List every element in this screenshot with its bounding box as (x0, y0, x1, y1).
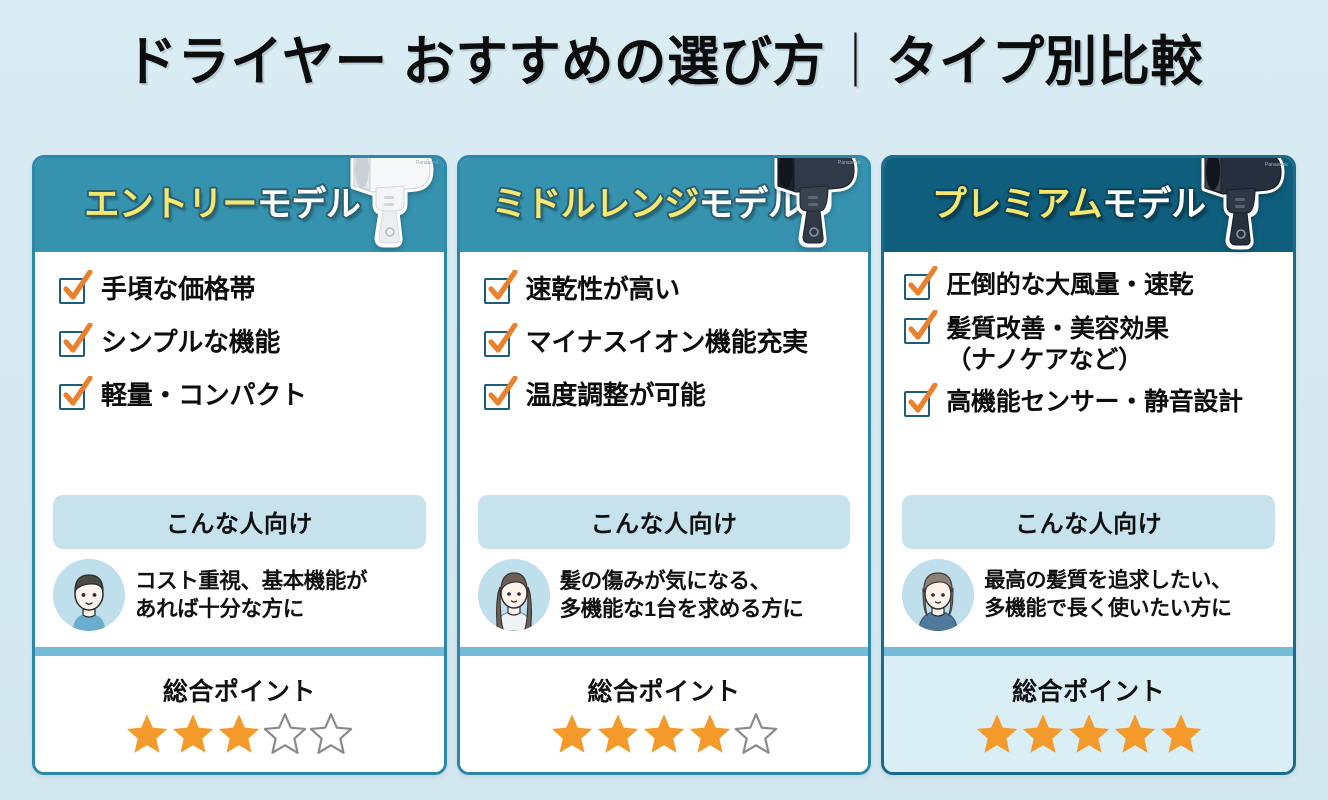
star-filled-icon (596, 712, 640, 756)
footer-divider (460, 647, 869, 656)
score-footer-midrange: 総合ポイント (460, 656, 869, 772)
feature-list-midrange: 速乾性が高い マイナスイオン機能充実 温 (460, 252, 869, 445)
column-header-plain: モデル (699, 185, 803, 224)
column-header-text-midrange: ミドルレンジモデル (492, 187, 803, 222)
feature-item: 温度調整が可能 (484, 380, 869, 412)
card-midrange: ミドルレンジモデル (457, 155, 872, 775)
target-badge: こんな人向け (53, 495, 426, 549)
checkbox-checked-icon (59, 384, 89, 412)
score-label: 総合ポイント (163, 672, 316, 708)
star-filled-icon (217, 712, 261, 756)
checkbox-checked-icon (904, 318, 934, 346)
star-filled-icon (1159, 712, 1203, 756)
checkbox-checked-icon (484, 278, 514, 306)
star-filled-icon (642, 712, 686, 756)
feature-label: 速乾性が高い (526, 274, 680, 306)
column-header-text-entry: エントリーモデル (84, 187, 360, 222)
star-filled-icon (1021, 712, 1065, 756)
feature-label: 軽量・コンパクト (101, 380, 307, 412)
column-entry[interactable]: エントリーモデル (32, 155, 447, 775)
feature-item: 軽量・コンパクト (59, 380, 444, 412)
svg-text:Panasonic: Panasonic (1265, 162, 1289, 168)
star-filled-icon (125, 712, 169, 756)
column-header-accent: エントリー (84, 185, 257, 224)
column-header-entry: エントリーモデル (35, 158, 444, 252)
column-midrange[interactable]: ミドルレンジモデル (457, 155, 872, 775)
feature-item: マイナスイオン機能充実 (484, 327, 869, 359)
column-header-accent: プレミアム (932, 185, 1102, 224)
page-title-separator: ｜ (825, 32, 886, 92)
svg-text:Panasonic: Panasonic (416, 160, 440, 166)
star-filled-icon (975, 712, 1019, 756)
star-rating (125, 712, 353, 756)
score-label: 総合ポイント (1012, 672, 1165, 708)
star-filled-icon (1113, 712, 1157, 756)
feature-label: 高機能センサー・静音設計 (946, 387, 1242, 418)
feature-label: 温度調整が可能 (526, 380, 706, 412)
column-header-text-premium: プレミアムモデル (932, 187, 1206, 222)
column-header-accent: ミドルレンジ (492, 185, 699, 224)
page-title: ドライヤー おすすめの選び方｜タイプ別比較 (125, 34, 1204, 91)
star-filled-icon (550, 712, 594, 756)
card-entry: エントリーモデル (32, 155, 447, 775)
avatar-male-icon (53, 559, 125, 631)
avatar-female-bob-icon (902, 559, 974, 631)
footer-divider (884, 647, 1293, 656)
score-footer-entry: 総合ポイント (35, 656, 444, 772)
checkbox-checked-icon (904, 274, 934, 302)
svg-text:Panasonic: Panasonic (838, 160, 862, 166)
footer-divider (35, 647, 444, 656)
feature-label: マイナスイオン機能充実 (526, 327, 808, 359)
target-badge: こんな人向け (478, 495, 851, 549)
target-row: コスト重視、基本機能が あれば十分な方に (53, 559, 426, 631)
column-header-midrange: ミドルレンジモデル (460, 158, 869, 252)
page-title-part3: タイプ別比較 (886, 32, 1203, 92)
star-filled-icon (1067, 712, 1111, 756)
column-header-premium: プレミアムモデル (884, 158, 1293, 252)
checkbox-checked-icon (484, 331, 514, 359)
star-empty-icon (263, 712, 307, 756)
feature-label: 手頃な価格帯 (101, 274, 255, 306)
infographic-page: ドライヤー おすすめの選び方｜タイプ別比較 エントリーモデル (0, 0, 1328, 800)
score-footer-premium: 総合ポイント (884, 656, 1293, 772)
star-rating (975, 712, 1203, 756)
feature-item: 高機能センサー・静音設計 (904, 387, 1293, 419)
card-premium: プレミアムモデル (881, 155, 1296, 775)
avatar-female-long-hair-icon (478, 559, 550, 631)
page-title-part1: ドライヤー (125, 32, 388, 92)
feature-item: シンプルな機能 (59, 327, 444, 359)
star-empty-icon (309, 712, 353, 756)
column-header-plain: モデル (1102, 185, 1206, 224)
target-audience-entry: こんな人向け (35, 495, 444, 647)
target-row: 髪の傷みが気になる、 多機能な1台を求める方に (478, 559, 851, 631)
target-badge: こんな人向け (902, 495, 1275, 549)
target-row: 最高の髪質を追求したい、 多機能で長く使いたい方に (902, 559, 1275, 631)
feature-item: 圧倒的な大風量・速乾 (904, 270, 1293, 302)
checkbox-checked-icon (59, 331, 89, 359)
target-audience-midrange: こんな人向け (460, 495, 869, 647)
column-header-plain: モデル (257, 185, 361, 224)
star-filled-icon (688, 712, 732, 756)
star-filled-icon (171, 712, 215, 756)
feature-list-premium: 圧倒的な大風量・速乾 髪質改善・美容効果 （ナノケアなど） (884, 252, 1293, 439)
page-title-wrap: ドライヤー おすすめの選び方｜タイプ別比較 (0, 34, 1328, 91)
star-empty-icon (734, 712, 778, 756)
target-description: コスト重視、基本機能が あれば十分な方に (135, 567, 367, 624)
feature-label: シンプルな機能 (101, 327, 280, 359)
column-premium[interactable]: プレミアムモデル (881, 155, 1296, 775)
page-title-part2: おすすめの選び方 (403, 32, 826, 92)
target-description: 髪の傷みが気になる、 多機能な1台を求める方に (560, 567, 804, 624)
target-description: 最高の髪質を追求したい、 多機能で長く使いたい方に (984, 567, 1231, 622)
feature-list-entry: 手頃な価格帯 シンプルな機能 軽量・コン (35, 252, 444, 445)
feature-item: 手頃な価格帯 (59, 274, 444, 306)
feature-item: 速乾性が高い (484, 274, 869, 306)
checkbox-checked-icon (59, 278, 89, 306)
feature-item: 髪質改善・美容効果 （ナノケアなど） (904, 314, 1293, 375)
checkbox-checked-icon (484, 384, 514, 412)
feature-label: 髪質改善・美容効果 （ナノケアなど） (946, 314, 1168, 375)
feature-label: 圧倒的な大風量・速乾 (946, 270, 1193, 301)
comparison-columns: エントリーモデル (32, 155, 1296, 775)
checkbox-checked-icon (904, 391, 934, 419)
target-audience-premium: こんな人向け (884, 495, 1293, 647)
score-label: 総合ポイント (588, 672, 741, 708)
star-rating (550, 712, 778, 756)
